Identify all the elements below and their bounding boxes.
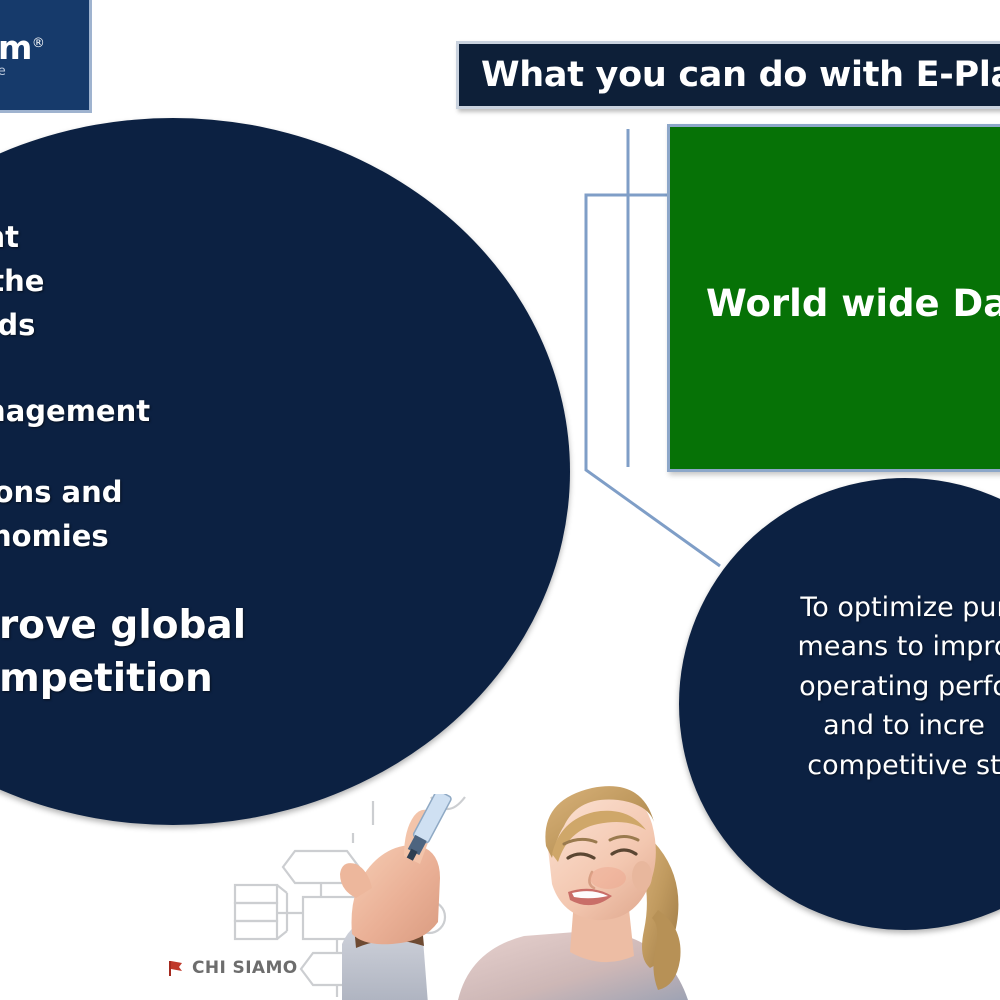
slide-title: What you can do with E-Pla: [481, 55, 1000, 95]
logo-wordmark: orm®: [0, 28, 44, 67]
capabilities-circle: E-procurement according to the Company n…: [0, 118, 570, 825]
bullet-expand-relations: Expand relations and generate economies: [0, 470, 336, 558]
chi-siamo-label: CHI SIAMO: [192, 958, 298, 978]
headline-improve-global-competition: Improve global competition: [0, 600, 386, 705]
registered-trademark-icon: ®: [32, 36, 45, 51]
red-flag-icon: [168, 960, 183, 977]
brand-logo-box[interactable]: orm® hoice: [0, 0, 92, 113]
slide-title-bar: What you can do with E-Pla: [456, 41, 1000, 109]
logo-tagline: hoice: [0, 64, 8, 79]
bullet-purchase-management: Purchase Management: [0, 390, 336, 434]
world-wide-database-box: World wide Dat: [667, 124, 1000, 472]
green-box-label: World wide Dat: [706, 282, 1000, 325]
logo-word-text: orm: [0, 28, 32, 67]
bullet-e-procurement: E-procurement according to the Company n…: [0, 215, 336, 347]
chi-siamo-link[interactable]: CHI SIAMO: [168, 958, 298, 978]
capabilities-circle-content: E-procurement according to the Company n…: [0, 118, 570, 825]
optimize-purchases-text: To optimize pur means to impro operating…: [739, 588, 1000, 785]
presentation-slide: World wide Dat To optimize pur means to …: [0, 0, 1000, 1000]
